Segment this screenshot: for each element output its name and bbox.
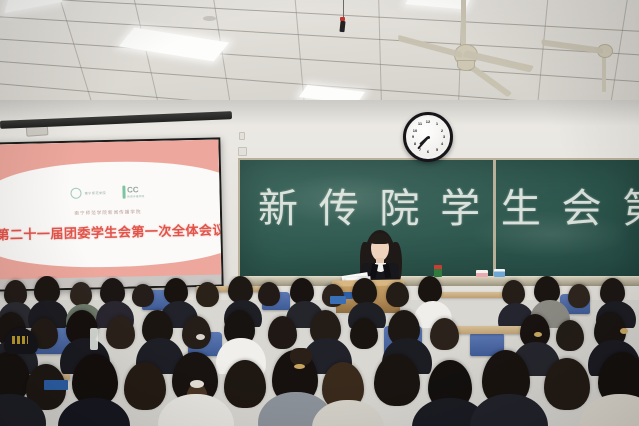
university-logo: 南宁师范学院: [70, 187, 106, 199]
hanging-sensor-body: [339, 21, 345, 32]
pull-down-projector-screen: 南宁师范学院 CC 新闻传播学院 南宁师范学院新闻传播学院 第二十一届团委学生会…: [0, 137, 224, 291]
clock-numeral: 8: [411, 141, 419, 146]
wall-socket-plate[interactable]: [238, 147, 247, 156]
clock-numeral: 2: [438, 128, 446, 133]
presentation-slide: 南宁师范学院 CC 新闻传播学院 南宁师范学院新闻传播学院 第二十一届团委学生会…: [0, 139, 222, 289]
audience-head: [352, 278, 377, 305]
hair-clip: [620, 328, 628, 334]
audience-head: [228, 276, 253, 303]
ceiling-vent: [203, 16, 216, 21]
audience-head: [182, 316, 211, 349]
college-logo-mark: [122, 185, 125, 198]
audience-head: [106, 316, 135, 349]
slide-organization-line: 南宁师范学院新闻传播学院: [0, 208, 220, 219]
classroom-photo-scene: 新 传 院 学 生 会 第 一 次 大 会 12 1 2 3 4 5 6 7 8…: [0, 0, 639, 426]
audience-head: [502, 280, 525, 305]
audience-torso: [58, 398, 130, 426]
blackboard-panel-divider: [493, 160, 496, 278]
hair-clip: [534, 332, 542, 337]
audience-head: [374, 354, 420, 406]
audience-head: [258, 282, 280, 306]
clock-numeral: 1: [433, 121, 441, 126]
clock-numeral: 5: [433, 147, 441, 152]
audience-head: [132, 284, 154, 307]
clock-numeral: 4: [438, 141, 446, 146]
audience-head: [124, 362, 166, 410]
clock-numeral: 10: [411, 128, 419, 133]
audience-head: [418, 276, 442, 303]
clock-numeral: 12: [424, 119, 432, 124]
hair-clip: [196, 334, 205, 340]
blackboard-chalk-text: 新 传 院 学 生 会 第 一 次 大 会: [258, 176, 639, 234]
presenter-fringe: [369, 233, 391, 244]
clock-numeral: 11: [416, 121, 424, 126]
wall-clock: 12 1 2 3 4 5 6 7 8 9 10 11: [403, 112, 453, 162]
audience-head: [568, 284, 590, 308]
ceiling-light-panel: [5, 0, 66, 13]
hair-scrunchie: [190, 380, 204, 388]
student-desk: [440, 292, 510, 298]
audience-head: [430, 318, 459, 350]
college-logo-subtext: 新闻传播学院: [127, 194, 144, 198]
ceiling-light-panel: [119, 28, 229, 62]
fan-blade: [398, 35, 462, 58]
notebook[interactable]: [44, 380, 68, 390]
ceiling-fan-secondary: [575, 22, 639, 112]
audience-head: [556, 320, 584, 351]
clock-center-pin: [427, 136, 430, 139]
audience-head: [196, 282, 219, 307]
water-bottle[interactable]: [90, 328, 98, 350]
audience-head: [350, 318, 378, 349]
clock-numeral: 6: [424, 149, 432, 154]
student-desk: [452, 326, 528, 334]
clock-numeral: 3: [440, 134, 448, 139]
notebook[interactable]: [330, 296, 346, 304]
cap-logo: [12, 336, 28, 344]
audience-head: [224, 360, 266, 408]
audience-head: [386, 282, 409, 307]
college-logo-text: CC: [127, 185, 145, 194]
audience-torso: [158, 394, 234, 426]
clock-numeral: 9: [409, 134, 417, 139]
college-logo: CC 新闻传播学院: [122, 185, 145, 199]
classroom-blackboard: 新 传 院 学 生 会 第 一 次 大 会: [238, 158, 639, 280]
university-logo-mark: [70, 187, 81, 198]
university-logo-text: 南宁师范学院: [84, 190, 106, 195]
audience-head: [268, 316, 297, 349]
clock-face: 12 1 2 3 4 5 6 7 8 9 10 11: [408, 117, 448, 157]
hair-clip: [294, 364, 305, 369]
seated-audience: [0, 276, 639, 426]
audience-head: [70, 282, 92, 306]
audience-head: [544, 358, 590, 410]
audience-torso: [580, 394, 639, 426]
audience-torso: [470, 394, 548, 426]
wall-socket-plate[interactable]: [239, 132, 245, 140]
